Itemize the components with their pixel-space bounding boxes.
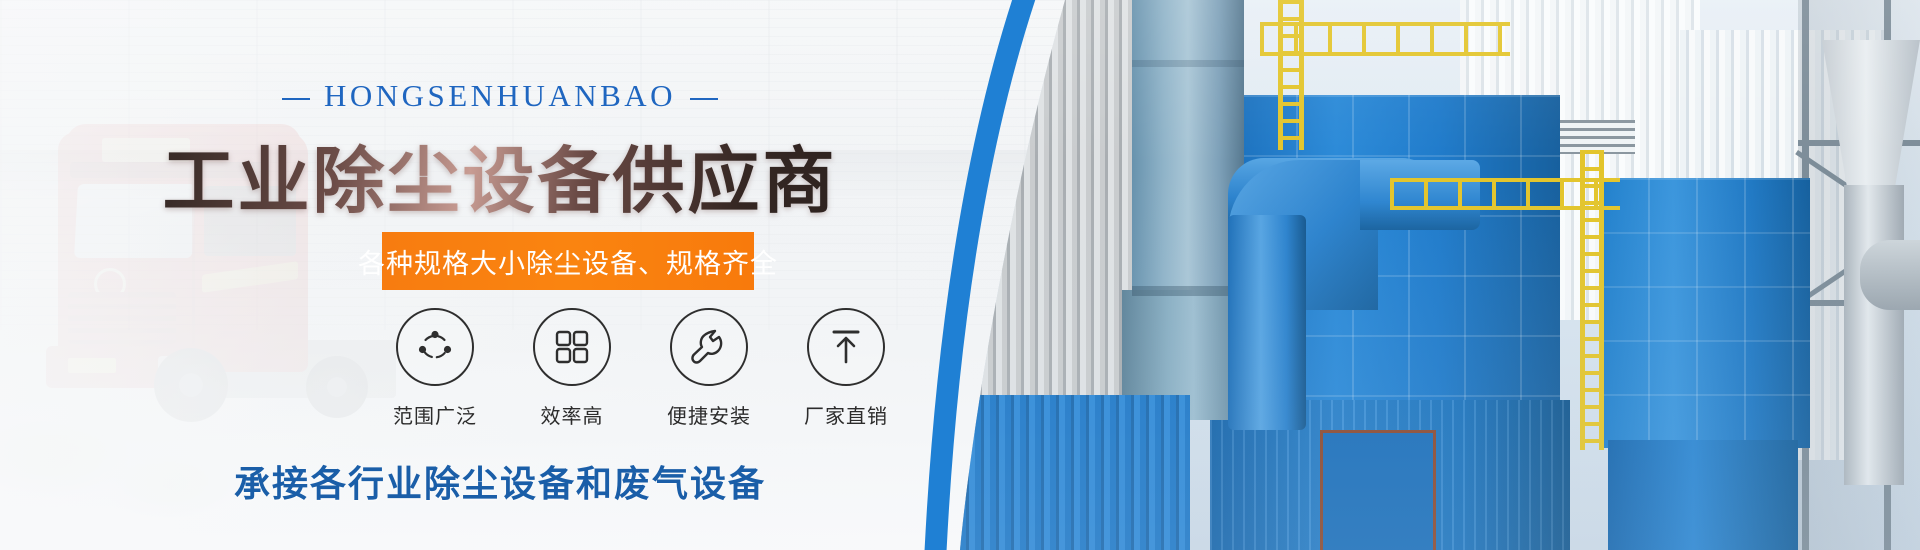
eyebrow-pinyin: HONGSENHUANBAO [0,78,1000,114]
feature-label: 效率高 [541,400,604,429]
feature-label: 范围广泛 [393,400,477,429]
headline: 工业除尘设备供应商 [0,122,1000,227]
feature-label: 便捷安装 [667,400,751,429]
industrial-plant-photo [960,0,1920,550]
feature-icon-ring [533,308,611,386]
share-network-icon [413,325,457,369]
feature-icon-ring [670,308,748,386]
wrench-icon [688,326,730,368]
eyebrow-text: HONGSENHUANBAO [324,78,676,113]
feature-icon-ring [396,308,474,386]
feature-item-install[interactable]: 便捷安装 [664,308,754,429]
hero-banner: HONGSENHUANBAO 工业除尘设备供应商 各种规格大小除尘设备、规格齐全… [0,0,1920,550]
feature-item-efficiency[interactable]: 效率高 [527,308,617,429]
orange-subtitle-bar: 各种规格大小除尘设备、规格齐全 [382,232,754,290]
arrow-up-bar-icon [826,326,866,368]
dash-left-icon [282,98,310,100]
dash-right-icon [690,98,718,100]
orange-subtitle-text: 各种规格大小除尘设备、规格齐全 [358,242,778,281]
feature-list: 范围广泛 效率高 [390,308,930,429]
grid-squares-icon [552,327,592,367]
feature-item-factory-direct[interactable]: 厂家直销 [801,308,891,429]
tagline: 承接各行业除尘设备和废气设备 [0,455,1000,507]
feature-item-range[interactable]: 范围广泛 [390,308,480,429]
feature-icon-ring [807,308,885,386]
feature-label: 厂家直销 [804,400,888,429]
banner-content: HONGSENHUANBAO 工业除尘设备供应商 各种规格大小除尘设备、规格齐全… [0,0,1000,550]
